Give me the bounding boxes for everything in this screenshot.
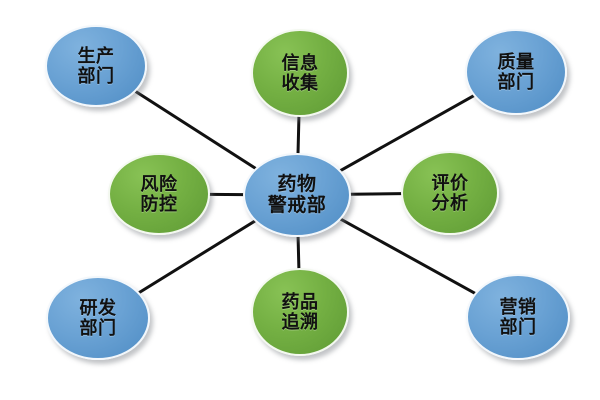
diagram-canvas: 药物 警戒部生产 部门信息 收集质量 部门风险 防控评价 分析研发 部门药品 追… xyxy=(0,0,600,400)
connector-line xyxy=(351,194,401,195)
node-production-department[interactable]: 生产 部门 xyxy=(45,25,147,107)
node-label-hub-pharmacovigilance: 药物 警戒部 xyxy=(268,174,327,217)
connector-line xyxy=(298,117,299,153)
node-label-quality-department: 质量 部门 xyxy=(498,52,535,92)
node-label-risk-prevention-control: 风险 防控 xyxy=(141,174,178,214)
node-label-information-collection: 信息 收集 xyxy=(282,53,319,93)
node-risk-prevention-control[interactable]: 风险 防控 xyxy=(108,153,210,235)
node-label-evaluation-analysis: 评价 分析 xyxy=(432,173,469,213)
node-drug-traceability[interactable]: 药品 追溯 xyxy=(251,268,349,356)
connector-line xyxy=(298,237,299,268)
node-quality-department[interactable]: 质量 部门 xyxy=(465,29,567,115)
node-evaluation-analysis[interactable]: 评价 分析 xyxy=(401,151,499,235)
node-label-rnd-department: 研发 部门 xyxy=(80,298,117,338)
node-label-marketing-department: 营销 部门 xyxy=(500,297,537,337)
node-label-production-department: 生产 部门 xyxy=(78,46,115,86)
node-marketing-department[interactable]: 营销 部门 xyxy=(466,274,570,360)
node-rnd-department[interactable]: 研发 部门 xyxy=(46,276,150,360)
node-hub-pharmacovigilance[interactable]: 药物 警戒部 xyxy=(243,153,351,237)
node-information-collection[interactable]: 信息 收集 xyxy=(251,29,349,117)
node-label-drug-traceability: 药品 追溯 xyxy=(282,292,319,332)
